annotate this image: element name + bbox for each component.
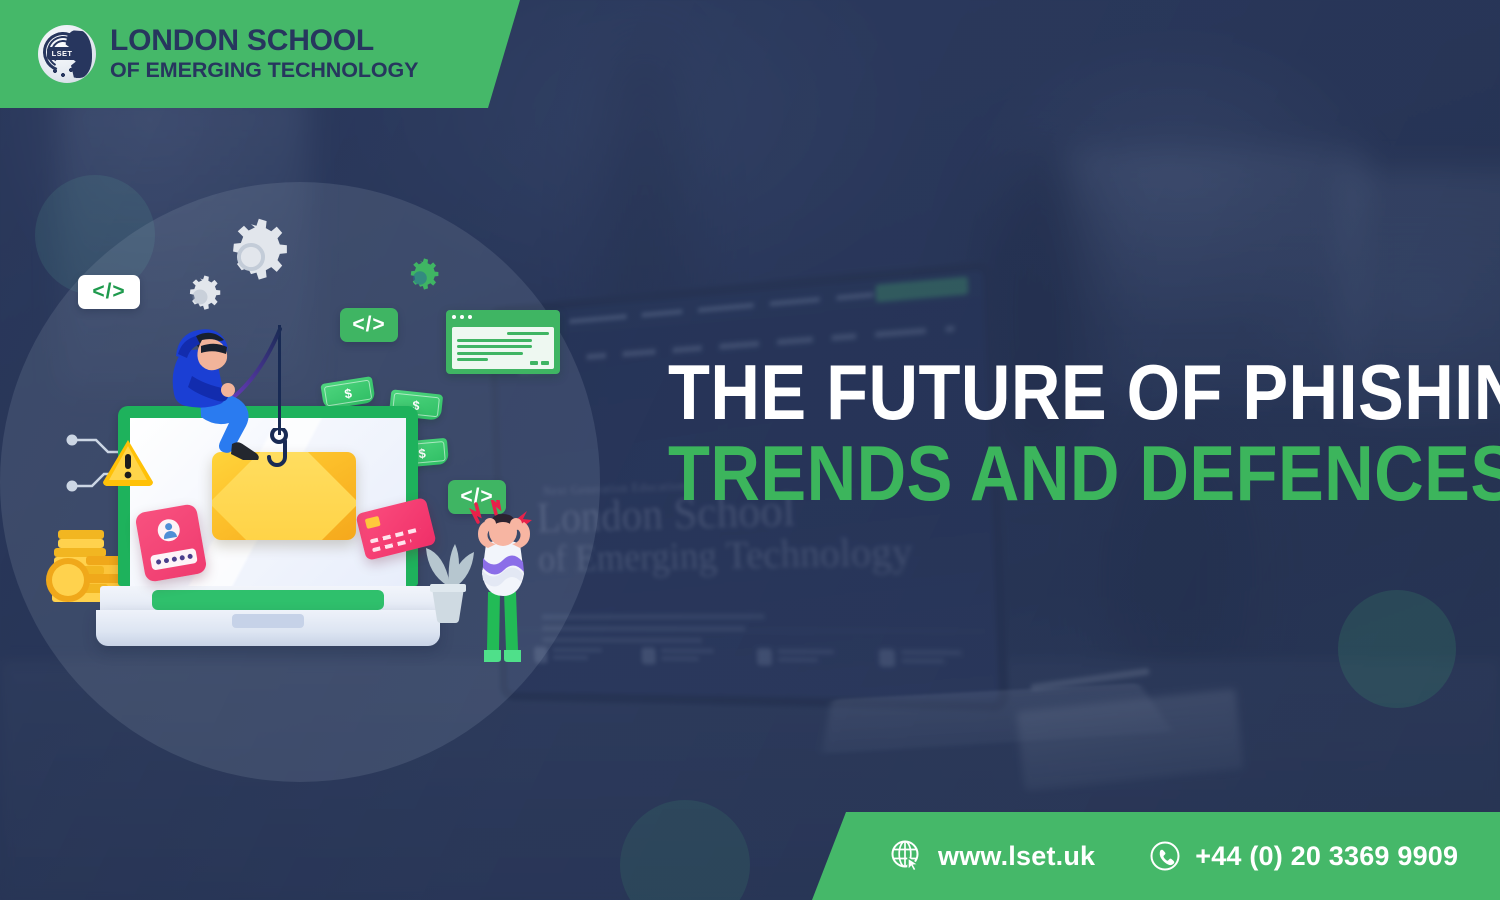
logo-dots bbox=[52, 67, 80, 79]
phone-contact[interactable]: +44 (0) 20 3369 9909 bbox=[1149, 840, 1458, 872]
headline-block: THE FUTURE OF PHISHING TRENDS AND DEFENC… bbox=[560, 355, 1460, 511]
stressed-person bbox=[466, 500, 536, 665]
warning-triangle-icon bbox=[102, 438, 154, 486]
laptop-keyboard bbox=[152, 590, 384, 610]
gear-icon-large bbox=[212, 218, 290, 296]
phone-icon bbox=[1149, 840, 1181, 872]
headline-line-1: THE FUTURE OF PHISHING bbox=[668, 355, 1460, 430]
decor-circle-green-right bbox=[1338, 590, 1456, 708]
logo-lset-badge: LSET bbox=[47, 47, 77, 60]
gear-icon-small bbox=[178, 275, 222, 319]
browser-content bbox=[452, 327, 554, 369]
laptop-trackpad bbox=[232, 614, 304, 628]
gear-icon-green bbox=[400, 258, 440, 298]
phishing-banner: Next Generation Education London School … bbox=[0, 0, 1500, 900]
brand-wordmark: LONDON SCHOOL OF EMERGING TECHNOLOGY bbox=[110, 26, 418, 82]
code-tag-white: </> bbox=[78, 275, 140, 309]
brand-header: LSET LONDON SCHOOL OF EMERGING TECHNOLOG… bbox=[0, 0, 520, 108]
avatar-icon bbox=[156, 517, 181, 542]
dollar-bill: $ bbox=[320, 376, 375, 410]
brand-line-2: OF EMERGING TECHNOLOGY bbox=[110, 60, 418, 82]
card-number-line-1 bbox=[370, 527, 421, 543]
headline-line-2: TRENDS AND DEFENCES FOR 2024 bbox=[668, 436, 1460, 511]
brand-line-1: LONDON SCHOOL bbox=[110, 26, 418, 56]
logo-lset-text: LSET bbox=[52, 49, 73, 58]
contact-footer: www.lset.uk +44 (0) 20 3369 9909 bbox=[812, 812, 1500, 900]
phone-number: +44 (0) 20 3369 9909 bbox=[1195, 841, 1458, 872]
dollar-symbol: $ bbox=[343, 385, 352, 401]
card-chip bbox=[365, 516, 381, 529]
login-credentials-card bbox=[134, 503, 207, 583]
browser-window-mockup bbox=[446, 310, 560, 374]
lset-logo-icon: LSET bbox=[38, 25, 96, 83]
hacker-character bbox=[148, 320, 268, 450]
browser-titlebar bbox=[446, 310, 560, 323]
phishing-illustration: </> </> </> $ $ $ bbox=[0, 170, 620, 790]
code-tag-green-upper: </> bbox=[340, 308, 398, 342]
website-contact[interactable]: www.lset.uk bbox=[890, 839, 1095, 873]
password-dots bbox=[150, 548, 198, 571]
globe-cursor-icon bbox=[890, 839, 924, 873]
dollar-symbol: $ bbox=[418, 445, 427, 461]
website-url: www.lset.uk bbox=[938, 841, 1095, 872]
